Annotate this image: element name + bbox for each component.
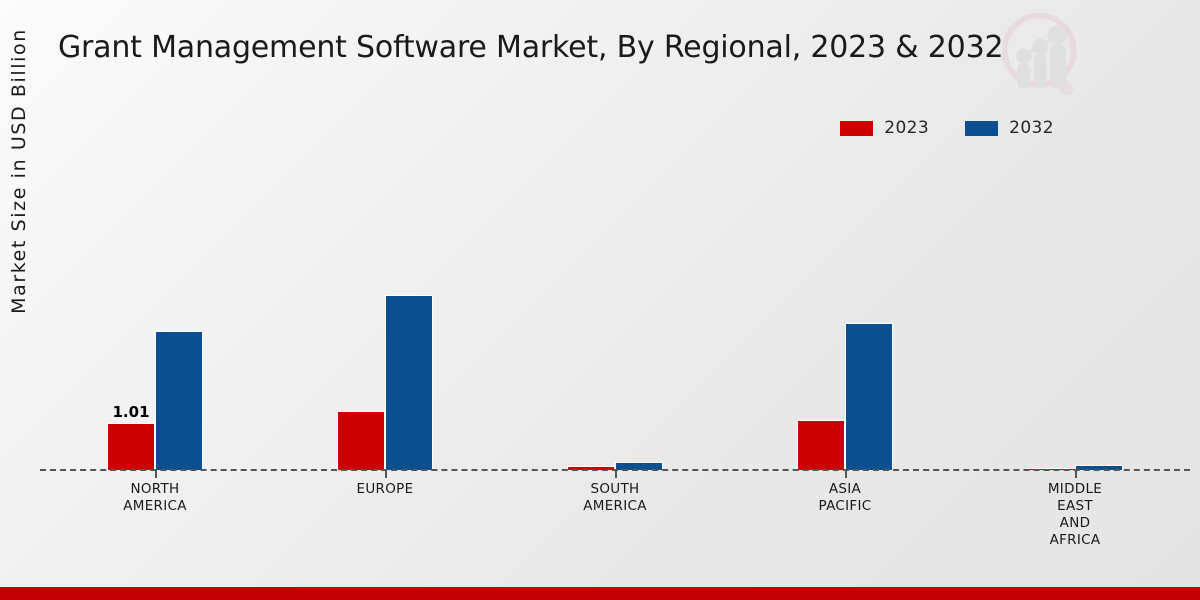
footer-accent-bar [0, 587, 1200, 600]
category-line: EAST [970, 498, 1180, 515]
category-line: AMERICA [510, 498, 720, 515]
chart-title: Grant Management Software Market, By Reg… [58, 30, 1003, 65]
axis-tick-south-america [615, 470, 617, 478]
category-label-north-america: NORTH AMERICA [50, 481, 260, 549]
bar-2032-north-america[interactable] [155, 331, 203, 470]
bar-group-middle-east-and-africa [970, 150, 1180, 470]
axis-tick-europe [385, 470, 387, 478]
bar-2032-europe[interactable] [385, 295, 433, 470]
bar-2023-north-america[interactable]: 1.01 [107, 423, 155, 470]
axis-tick-asia-pacific [845, 470, 847, 478]
category-label-asia-pacific: ASIA PACIFIC [740, 481, 950, 549]
category-line: MIDDLE [970, 481, 1180, 498]
category-line: ASIA [740, 481, 950, 498]
bar-group-north-america: 1.01 [50, 150, 260, 470]
category-line: NORTH [50, 481, 260, 498]
legend-item-2023[interactable]: 2023 [840, 118, 929, 138]
y-axis-title: Market Size in USD Billion [8, 11, 30, 331]
magnifying-glass-bar-chart-logo-icon [995, 8, 1091, 104]
chart-container: Grant Management Software Market, By Reg… [0, 0, 1200, 600]
category-line: EUROPE [280, 481, 490, 498]
legend-label-2023: 2023 [884, 118, 929, 138]
legend-item-2032[interactable]: 2032 [965, 118, 1054, 138]
bar-groups: 1.01 [40, 150, 1190, 470]
category-label-south-america: SOUTH AMERICA [510, 481, 720, 549]
category-line: AFRICA [970, 532, 1180, 549]
chart-legend: 2023 2032 [840, 118, 1054, 138]
bar-2032-asia-pacific[interactable] [845, 323, 893, 470]
category-line: PACIFIC [740, 498, 950, 515]
bar-2023-europe[interactable] [337, 411, 385, 470]
bar-group-europe [280, 150, 490, 470]
axis-tick-middle-east-and-africa [1075, 470, 1077, 478]
legend-swatch-2023 [840, 121, 873, 136]
bar-2023-asia-pacific[interactable] [797, 420, 845, 470]
legend-label-2032: 2032 [1009, 118, 1054, 138]
x-axis-category-labels: NORTH AMERICA EUROPE SOUTH AMERICA ASIA … [40, 481, 1190, 549]
category-line: AMERICA [50, 498, 260, 515]
bar-group-south-america [510, 150, 720, 470]
category-line: AND [970, 515, 1180, 532]
category-label-middle-east-and-africa: MIDDLE EAST AND AFRICA [970, 481, 1180, 549]
bar-group-asia-pacific [740, 150, 950, 470]
category-line: SOUTH [510, 481, 720, 498]
category-label-europe: EUROPE [280, 481, 490, 549]
bar-value-2023-north-america: 1.01 [112, 403, 149, 421]
legend-swatch-2032 [965, 121, 998, 136]
axis-tick-north-america [155, 470, 157, 478]
